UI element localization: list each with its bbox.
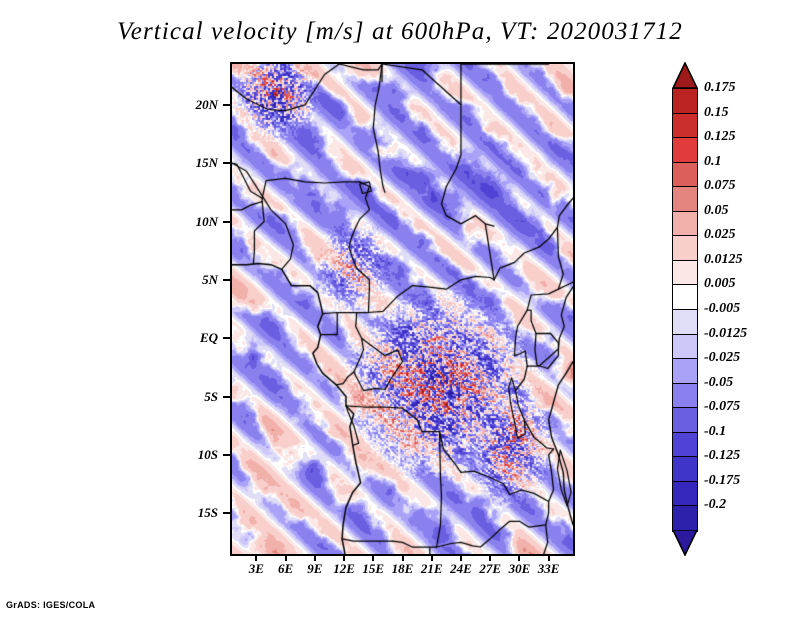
colorbar-tick-label: 0.1	[704, 154, 722, 170]
colorbar-tick-label: -0.075	[704, 399, 740, 415]
colorbar-band	[672, 309, 698, 335]
colorbar-band	[672, 407, 698, 433]
x-axis-tick-mark	[314, 556, 316, 561]
colorbar-band	[672, 260, 698, 286]
grads-attribution: GrADS: IGES/COLA	[6, 600, 95, 610]
colorbar-band	[672, 113, 698, 139]
colorbar-tick-label: -0.2	[704, 497, 726, 513]
colorbar-band	[672, 334, 698, 360]
colorbar-tick-label: 0.05	[704, 203, 729, 219]
colorbar-band	[672, 358, 698, 384]
colorbar-tick-label: -0.1	[704, 424, 726, 440]
y-axis-tick-label: 10N	[196, 214, 218, 230]
x-axis-tick-mark	[285, 556, 287, 561]
y-axis-tick-label: 15S	[198, 505, 218, 521]
y-axis-tick-mark	[223, 104, 230, 106]
page-title: Vertical velocity [m/s] at 600hPa, VT: 2…	[0, 18, 800, 46]
x-axis-tick-label: 33E	[529, 561, 569, 577]
x-axis-tick-mark	[255, 556, 257, 561]
colorbar-tick-label: -0.0125	[704, 326, 747, 342]
map-plot-area	[230, 62, 575, 556]
x-axis-tick-mark	[372, 556, 374, 561]
colorbar-tick-label: -0.005	[704, 301, 740, 317]
colorbar-band	[672, 235, 698, 261]
vertical-velocity-field	[232, 64, 573, 554]
colorbar-band	[672, 481, 698, 507]
colorbar-tick-label: -0.125	[704, 448, 740, 464]
x-axis-tick-mark	[518, 556, 520, 561]
colorbar-tick-label: 0.075	[704, 178, 736, 194]
y-axis-tick-label: 10S	[198, 447, 218, 463]
colorbar-band	[672, 284, 698, 310]
y-axis-tick-label: EQ	[200, 330, 218, 346]
colorbar-band	[672, 162, 698, 188]
colorbar-band	[672, 432, 698, 458]
x-axis-tick-mark	[489, 556, 491, 561]
y-axis-tick-mark	[223, 337, 230, 339]
colorbar-band	[672, 88, 698, 114]
colorbar-tick-label: 0.025	[704, 227, 736, 243]
colorbar-band	[672, 505, 698, 531]
colorbar-band	[672, 137, 698, 163]
y-axis-tick-mark	[223, 279, 230, 281]
y-axis-tick-label: 15N	[196, 155, 218, 171]
x-axis-tick-mark	[460, 556, 462, 561]
x-axis-tick-mark	[402, 556, 404, 561]
colorbar-tick-label: -0.05	[704, 375, 733, 391]
x-axis-tick-mark	[431, 556, 433, 561]
colorbar-tick-label: -0.025	[704, 350, 740, 366]
colorbar-under-arrow	[672, 530, 698, 556]
colorbar-tick-label: 0.15	[704, 105, 729, 121]
colorbar-tick-label: 0.175	[704, 80, 736, 96]
y-axis-tick-label: 5S	[204, 389, 218, 405]
colorbar-band	[672, 456, 698, 482]
colorbar-tick-label: -0.175	[704, 473, 740, 489]
y-axis-tick-mark	[223, 396, 230, 398]
colorbar-band	[672, 186, 698, 212]
colorbar-band	[672, 211, 698, 237]
colorbar-tick-label: 0.125	[704, 129, 736, 145]
x-axis-tick-mark	[548, 556, 550, 561]
colorbar-over-arrow	[672, 62, 698, 88]
colorbar: 0.1750.150.1250.10.0750.050.0250.01250.0…	[672, 62, 698, 556]
y-axis-tick-label: 5N	[202, 272, 218, 288]
y-axis-tick-label: 20N	[196, 97, 218, 113]
y-axis-tick-mark	[223, 454, 230, 456]
colorbar-band	[672, 383, 698, 409]
y-axis-tick-mark	[223, 512, 230, 514]
colorbar-tick-label: 0.0125	[704, 252, 743, 268]
x-axis-tick-mark	[343, 556, 345, 561]
colorbar-tick-label: 0.005	[704, 276, 736, 292]
y-axis-tick-mark	[223, 221, 230, 223]
y-axis-tick-mark	[223, 162, 230, 164]
